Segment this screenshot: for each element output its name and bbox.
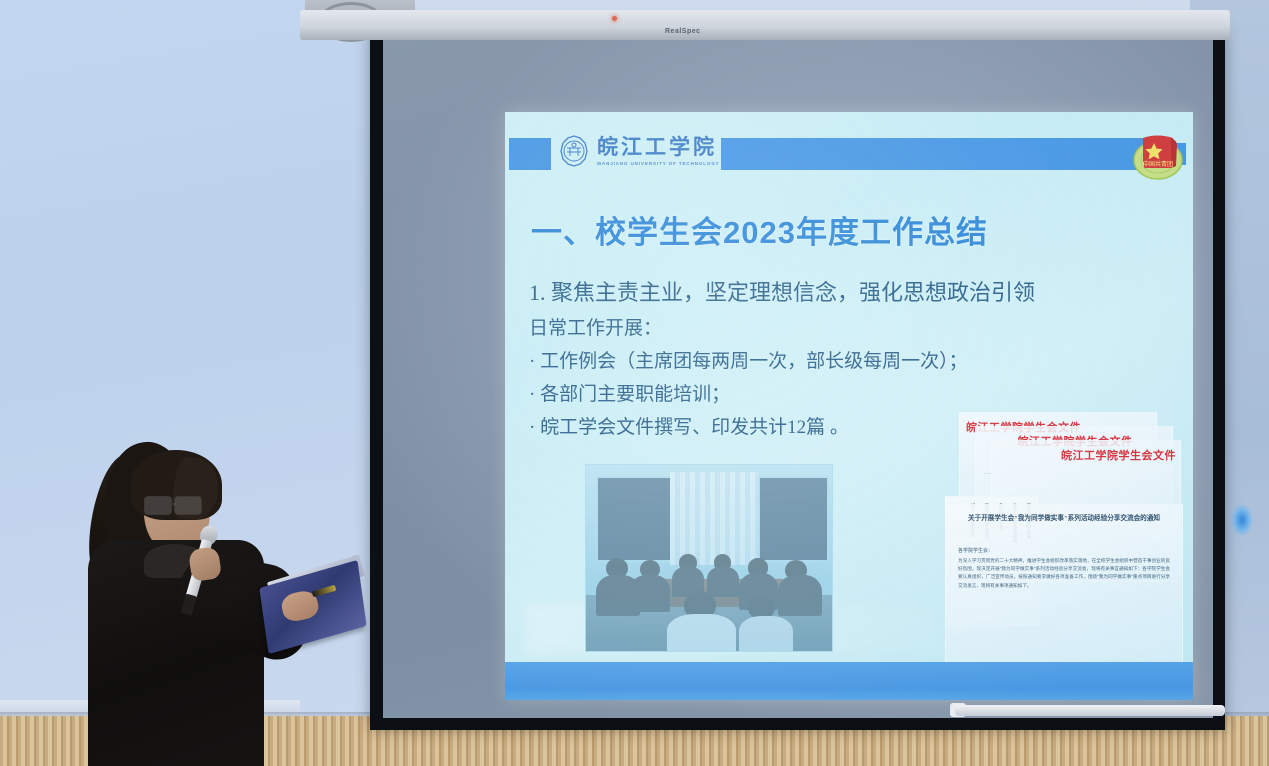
slide-footer-bar	[505, 662, 1193, 700]
microphone-base	[181, 594, 197, 616]
student-union-meeting-photo	[585, 464, 833, 652]
notice-salutation: 各学院学生会：	[958, 547, 993, 554]
roller-brand-label: RealSpec	[665, 28, 701, 35]
university-name-cn: 皖江工学院	[597, 137, 720, 158]
eyeglasses-icon	[144, 496, 212, 514]
document-red-header: 皖江工学院学生会文件	[1000, 447, 1176, 463]
slide-title: 一、校学生会2023年度工作总结	[531, 207, 988, 252]
eyeglass-lens-right	[174, 496, 202, 515]
screenshot-root: RealSpec 皖江工学院 WANJIANG UNIVERSITY OF TE…	[0, 0, 1269, 766]
status-led-icon	[612, 16, 617, 21]
eyeglass-lens-left	[144, 496, 172, 515]
wall-indicator-glow-icon	[1232, 505, 1252, 535]
student-presenter	[86, 440, 386, 766]
notice-body-text: 为深入学习贯彻党的二十大精神，推进学生会组织改革落实落地，在全校学生会组织中营造…	[958, 557, 1170, 590]
bullet-item-2: · 各部门主要职能培训；	[529, 378, 968, 411]
university-seal-icon	[557, 134, 591, 168]
slide-bullet-block: 日常工作开展： · 工作例会（主席团每两周一次，部长级每周一次）； · 各部门主…	[529, 312, 968, 444]
notice-document: 关于开展学生会"我为同学做实事"系列活动经验分享交流会的通知 各学院学生会： 为…	[945, 504, 1183, 664]
screen-bottom-weight-bar	[955, 705, 1225, 716]
university-name-en: WANJIANG UNIVERSITY OF TECHNOLOGY	[597, 161, 720, 166]
projected-slide: 皖江工学院 WANJIANG UNIVERSITY OF TECHNOLOGY …	[505, 112, 1193, 700]
university-logo-text: 皖江工学院 WANJIANG UNIVERSITY OF TECHNOLOGY	[597, 137, 720, 166]
notice-title: 关于开展学生会"我为同学做实事"系列活动经验分享交流会的通知	[956, 513, 1172, 524]
slide-subheading: 日常工作开展：	[529, 312, 968, 345]
screen-roller-housing[interactable]: RealSpec	[300, 10, 1230, 40]
svg-text:中国共青团: 中国共青团	[1143, 160, 1173, 168]
slide-header-accent-square	[509, 138, 551, 170]
bullet-item-1: · 工作例会（主席团每两周一次，部长级每周一次）；	[529, 345, 968, 378]
university-logo: 皖江工学院 WANJIANG UNIVERSITY OF TECHNOLOGY	[557, 134, 720, 168]
photo-projection-washout	[586, 465, 832, 651]
communist-youth-league-emblem-icon: 中国共青团	[1127, 126, 1189, 180]
bullet-item-3: · 皖工学会文件撰写、印发共计12篇 。	[529, 411, 968, 444]
slide-header-accent-bar	[721, 138, 1146, 170]
slide-section-line: 1. 聚焦主责主业，坚定理想信念，强化思想政治引领	[529, 275, 1035, 307]
